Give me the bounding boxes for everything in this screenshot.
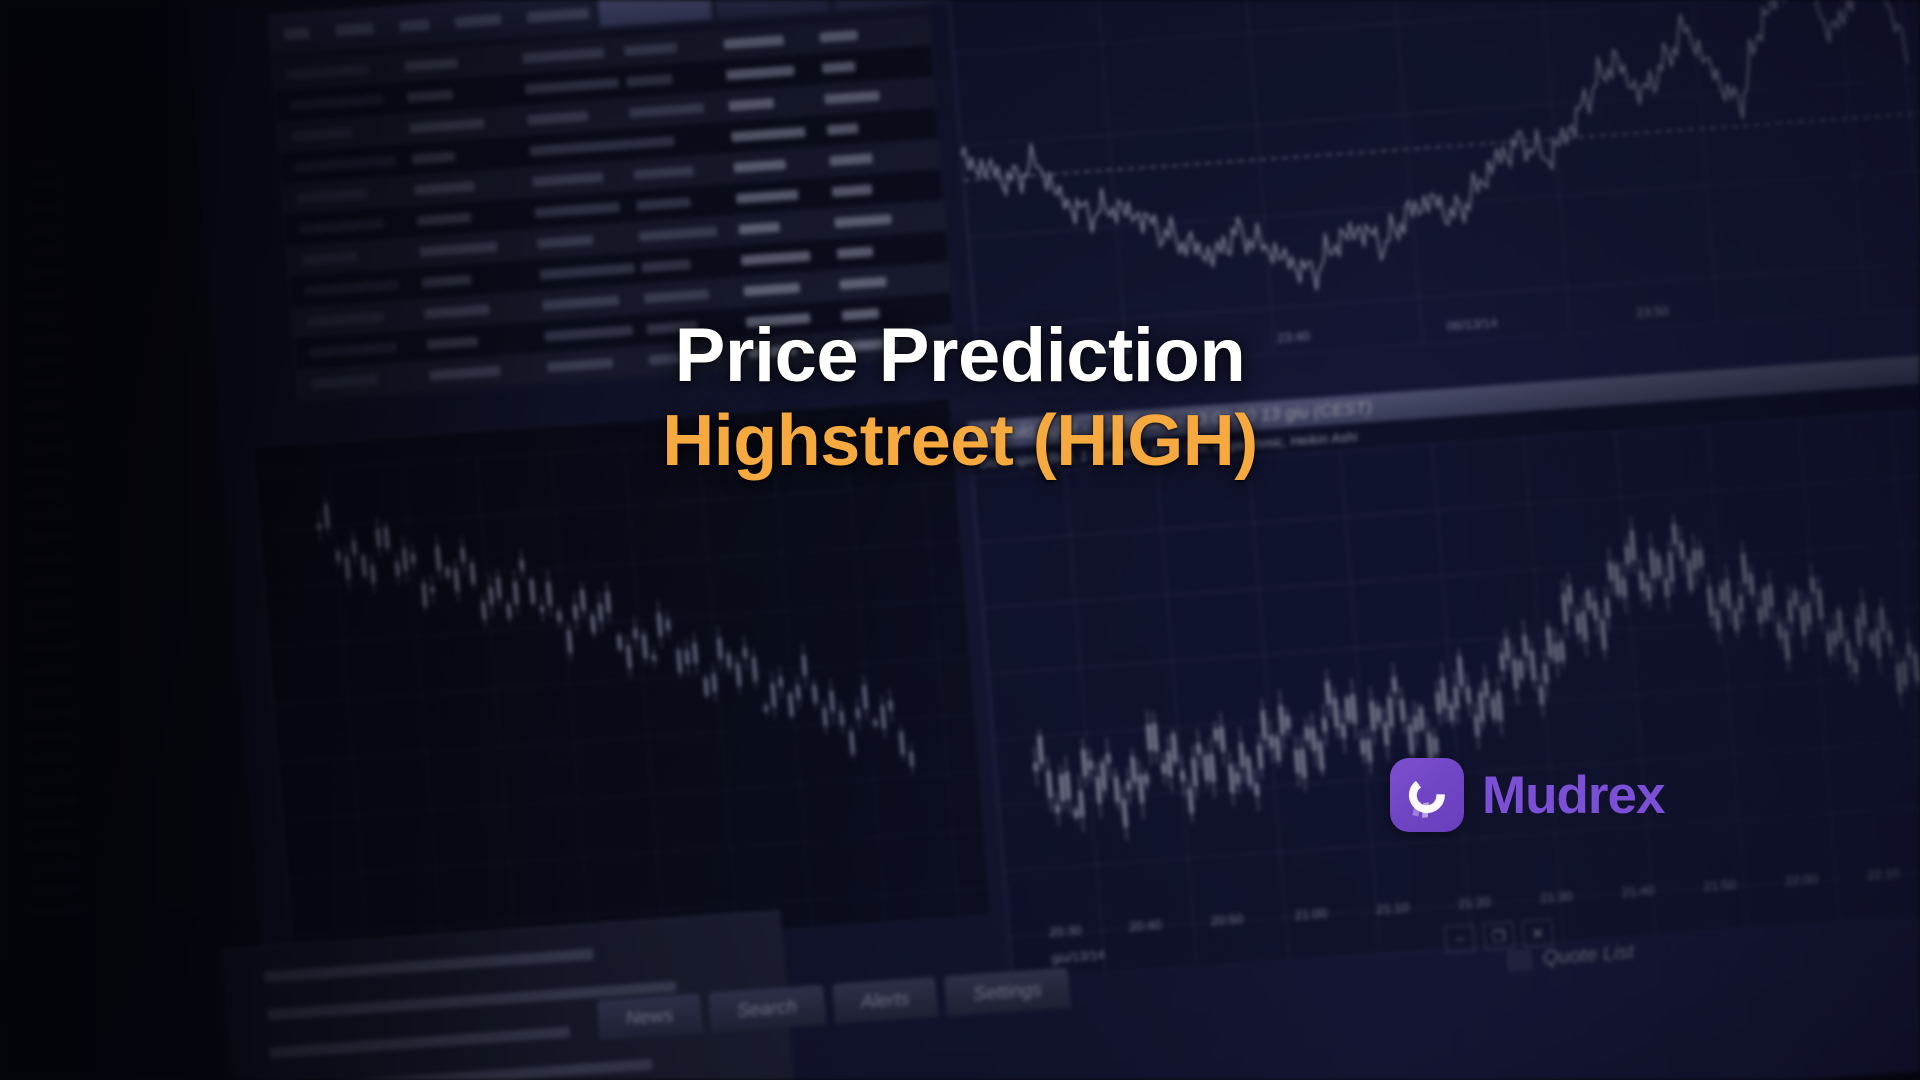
mudrex-wordmark: Mudrex xyxy=(1482,769,1664,822)
mudrex-logo[interactable]: Mudrex xyxy=(1390,758,1664,832)
mudrex-swoosh-icon xyxy=(1390,758,1464,832)
background-photo: EUR/USD - 1,35379 - 00:00:00 14 giu (EES… xyxy=(0,0,1920,1080)
headline-main-title: Price Prediction xyxy=(0,316,1920,396)
price-prediction-banner: EUR/USD - 1,35379 - 00:00:00 14 giu (EES… xyxy=(0,0,1920,1080)
photo-dim-overlay xyxy=(0,0,1920,1080)
headline-subtitle: Highstreet (HIGH) xyxy=(0,402,1920,481)
banner-headline: Price Prediction Highstreet (HIGH) xyxy=(0,316,1920,481)
